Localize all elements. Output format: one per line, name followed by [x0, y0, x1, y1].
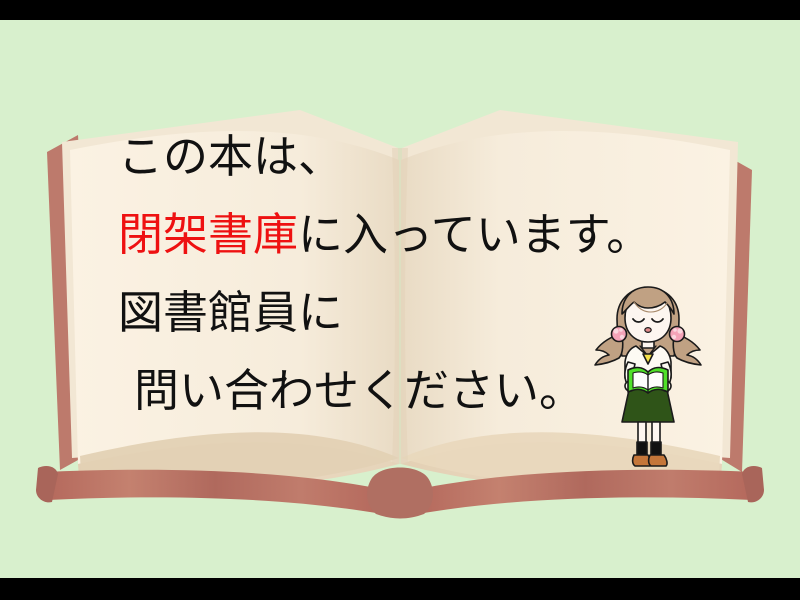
girl-sock-right [651, 442, 661, 456]
girl-shoe-right [649, 455, 667, 466]
girl-held-book [628, 368, 668, 393]
girl-sock-left [637, 442, 647, 456]
message-line-1-text: この本は、 [118, 130, 343, 183]
girl-hairtie-right [670, 327, 685, 342]
girl-leg-left [638, 422, 646, 444]
message-line-2-rest: に入っています。 [298, 208, 651, 261]
girl-leg-right [652, 422, 660, 444]
letterbox-top [0, 0, 800, 20]
girl-mouth [645, 328, 651, 333]
message-line-1: この本は、 [118, 118, 698, 196]
girl-reading-illustration [588, 272, 708, 472]
message-line-4-text: 問い合わせください。 [134, 364, 584, 417]
highlight-term-closed-stacks: 閉架書庫 [118, 208, 298, 261]
girl-hairtie-left [612, 327, 627, 342]
message-line-3-text: 図書館員に [118, 286, 343, 339]
book-spine-bump [367, 468, 433, 519]
slide-canvas: この本は、 閉架書庫に入っています。 図書館員に 問い合わせください。 [0, 20, 800, 578]
letterbox-bottom [0, 578, 800, 600]
message-line-2: 閉架書庫に入っています。 [118, 196, 698, 274]
slide-stage: この本は、 閉架書庫に入っています。 図書館員に 問い合わせください。 [0, 0, 800, 600]
